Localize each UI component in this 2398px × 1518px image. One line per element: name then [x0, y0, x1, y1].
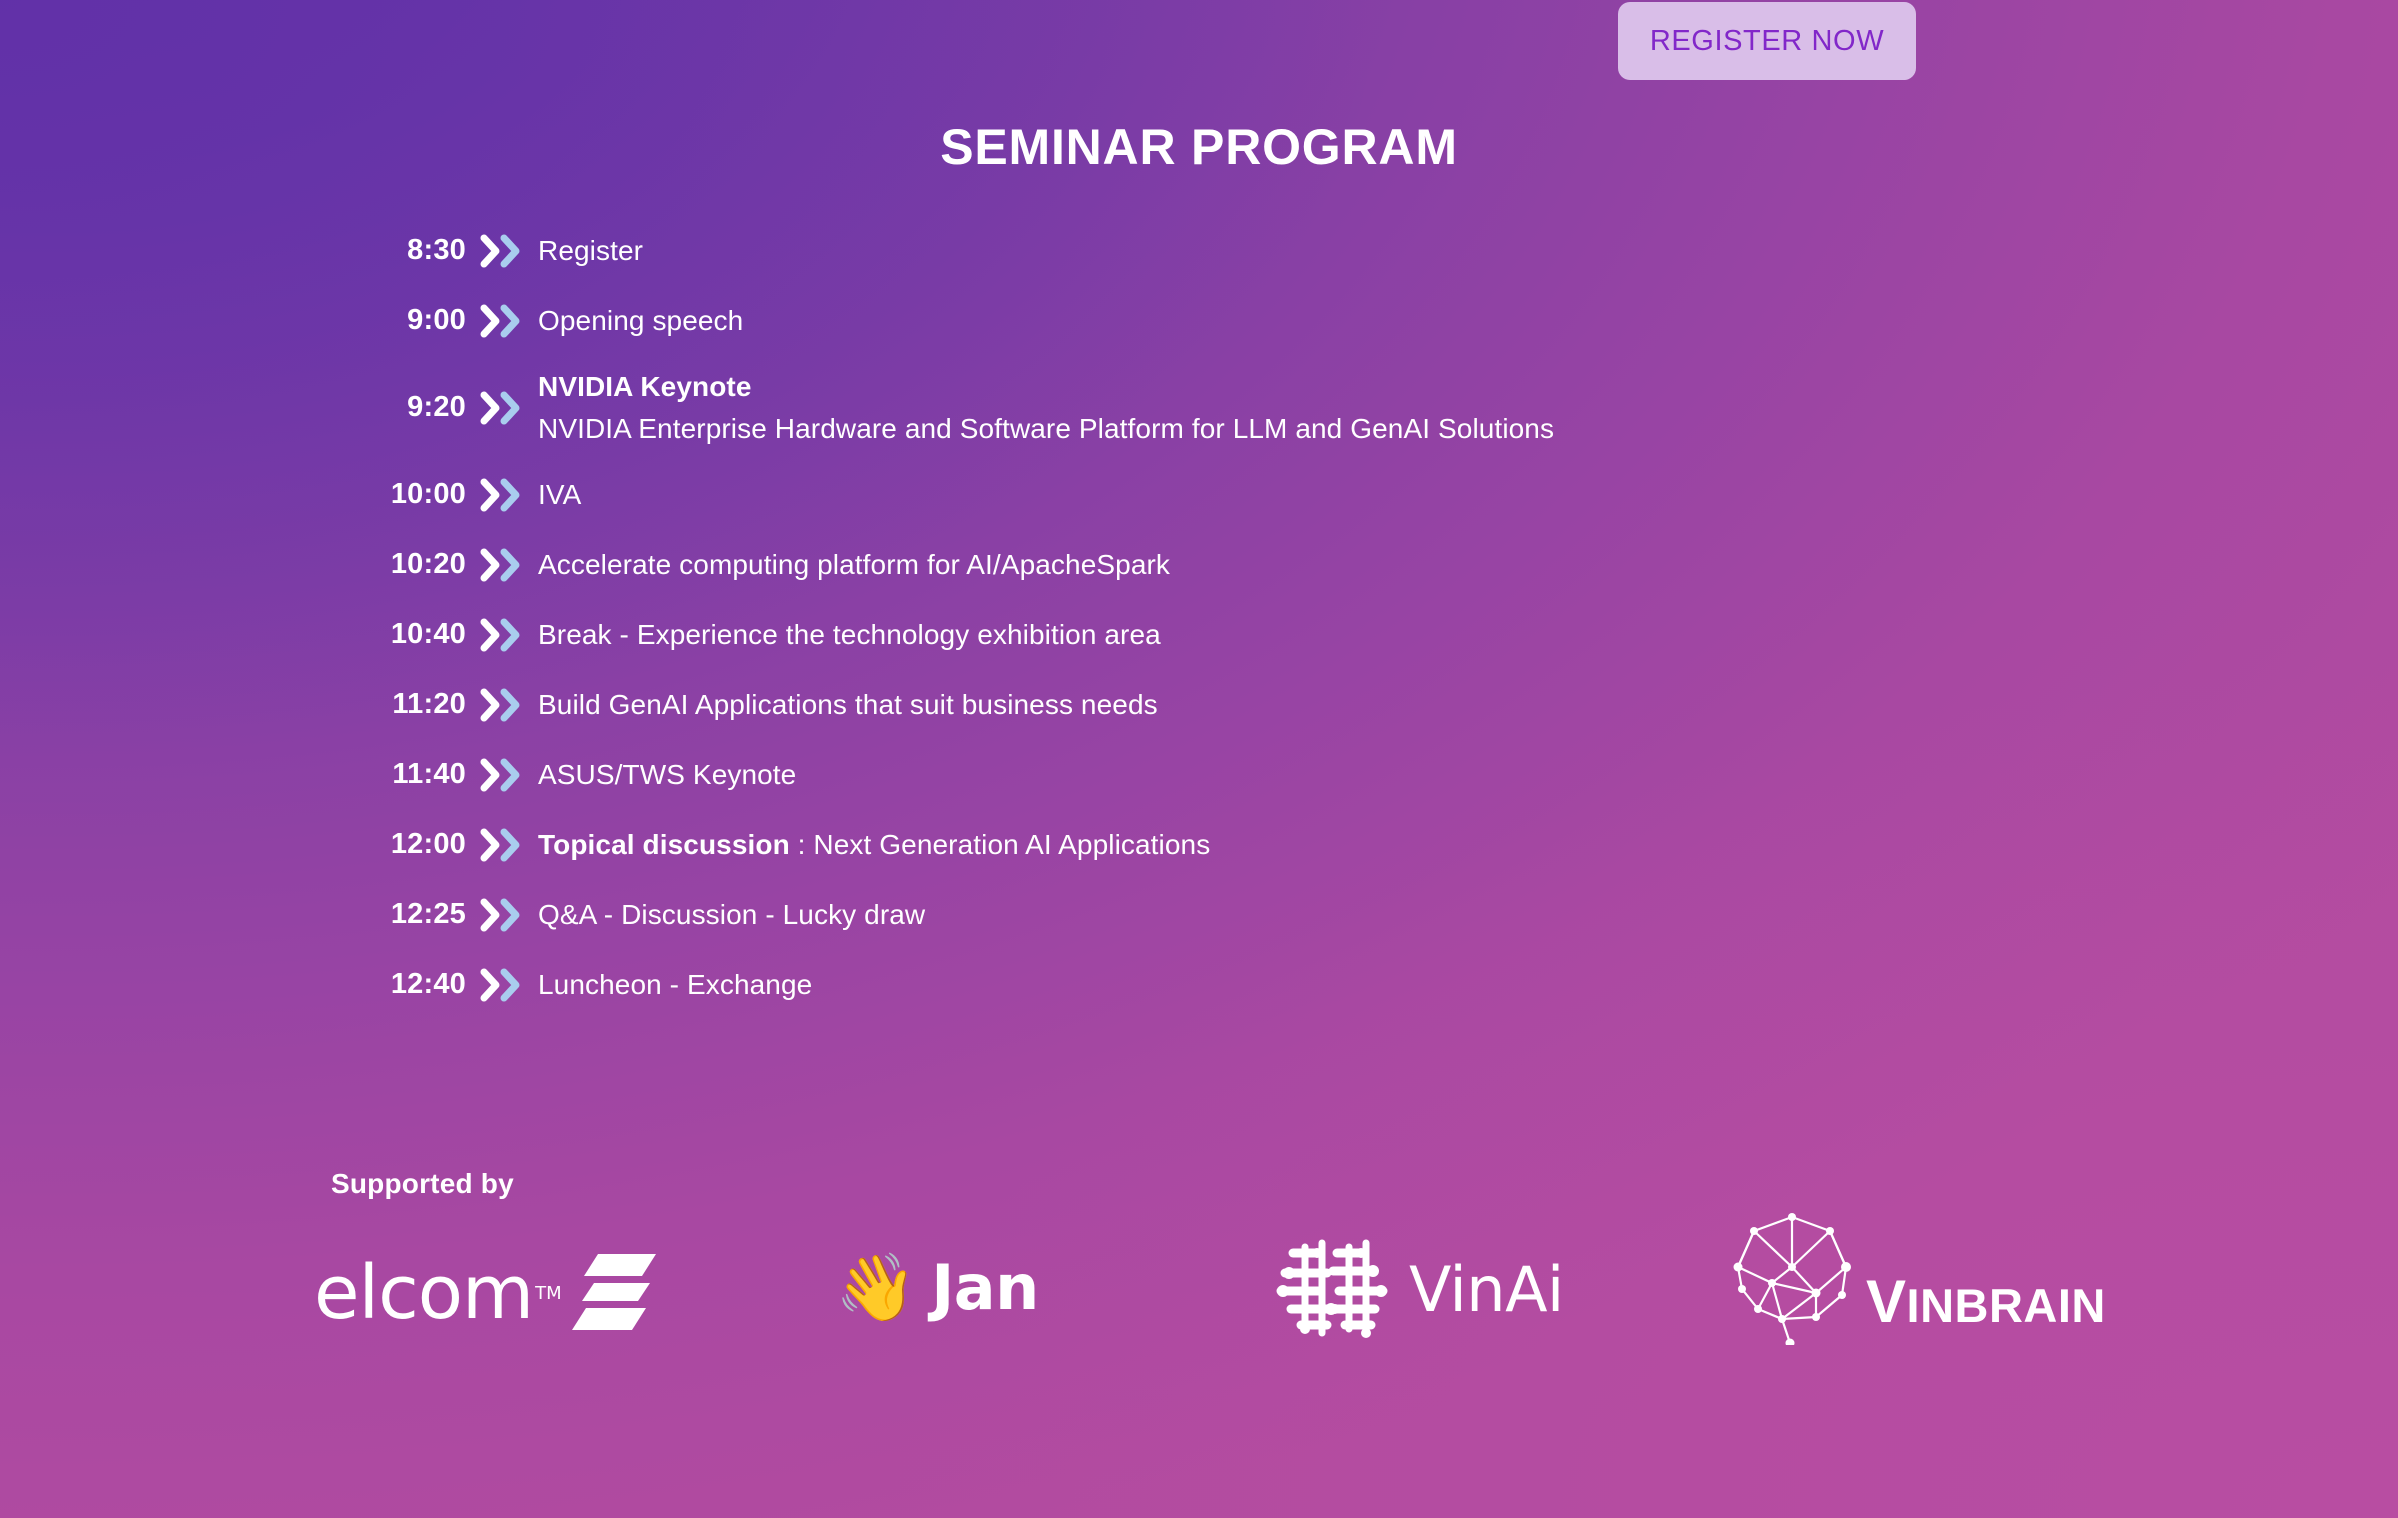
schedule-item-rest: : Next Generation AI Applications: [790, 829, 1211, 860]
jan-wordmark: Jan: [931, 1251, 1039, 1324]
schedule-row: 10:20 Accelerate computing platform for …: [334, 530, 2134, 600]
schedule-row: 11:20 Build GenAI Applications that suit…: [334, 670, 2134, 740]
schedule-row: 9:00 Opening speech: [334, 286, 2134, 356]
schedule-row: 11:40 ASUS/TWS Keynote: [334, 740, 2134, 810]
schedule-time: 11:40: [334, 759, 466, 791]
schedule-row: 12:00 Topical discussion : Next Generati…: [334, 810, 2134, 880]
schedule-item-text: Register: [538, 232, 2134, 270]
double-chevron-right-icon: [466, 898, 538, 932]
double-chevron-right-icon: [466, 688, 538, 722]
schedule-item-text: Luncheon - Exchange: [538, 966, 2134, 1004]
schedule-row: 12:25 Q&A - Discussion - Lucky draw: [334, 880, 2134, 950]
register-now-button[interactable]: REGISTER NOW: [1618, 2, 1916, 80]
schedule-row: 10:40 Break - Experience the technology …: [334, 600, 2134, 670]
schedule-item-text: IVA: [538, 476, 2134, 514]
schedule-time: 9:00: [334, 305, 466, 337]
sponsor-logo-jan: 👋 Jan: [835, 1222, 1039, 1352]
schedule-row: 12:40 Luncheon - Exchange: [334, 950, 2134, 1020]
sponsor-logo-vinbrain: VINBRAIN: [1720, 1212, 2106, 1342]
schedule-time: 12:40: [334, 969, 466, 1001]
supported-by-label: Supported by: [331, 1168, 514, 1200]
schedule-item-subtitle: NVIDIA Enterprise Hardware and Software …: [538, 410, 2134, 448]
schedule-time: 8:30: [334, 235, 466, 267]
sponsor-logo-row: elcom TM 👋 Jan: [300, 1218, 2150, 1368]
schedule-row: 9:20 NVIDIA Keynote NVIDIA Enterprise Ha…: [334, 356, 2134, 460]
vinbrain-wordmark-cap: V: [1866, 1268, 1907, 1335]
double-chevron-right-icon: [466, 234, 538, 268]
schedule-item-text: Break - Experience the technology exhibi…: [538, 616, 2134, 654]
schedule-row: 8:30 Register: [334, 216, 2134, 286]
sponsor-logo-elcom: elcom TM: [314, 1228, 658, 1358]
vinbrain-brain-network-icon: [1720, 1205, 1872, 1350]
double-chevron-right-icon: [466, 828, 538, 862]
schedule-time: 12:00: [334, 829, 466, 861]
double-chevron-right-icon: [466, 391, 538, 425]
schedule-item-text: Build GenAI Applications that suit busin…: [538, 686, 2134, 724]
schedule-time: 9:20: [334, 392, 466, 424]
schedule-item-text: Accelerate computing platform for AI/Apa…: [538, 546, 2134, 584]
elcom-trademark: TM: [535, 1283, 562, 1304]
vinai-wordmark: VinAi: [1409, 1253, 1564, 1326]
page-title: SEMINAR PROGRAM: [0, 118, 2398, 176]
schedule-item-text: Q&A - Discussion - Lucky draw: [538, 896, 2134, 934]
double-chevron-right-icon: [466, 548, 538, 582]
schedule-item-text: Topical discussion : Next Generation AI …: [538, 826, 2134, 864]
schedule-item-title: NVIDIA Keynote: [538, 368, 2134, 406]
waving-hand-icon: 👋: [835, 1254, 917, 1320]
schedule-item-bold-prefix: Topical discussion: [538, 829, 790, 860]
double-chevron-right-icon: [466, 758, 538, 792]
elcom-wordmark: elcom: [314, 1256, 533, 1330]
schedule-time: 10:40: [334, 619, 466, 651]
schedule-item-text: Opening speech: [538, 302, 2134, 340]
vinbrain-wordmark: VINBRAIN: [1866, 1267, 2106, 1336]
vinai-circuit-mark-icon: [1275, 1233, 1393, 1346]
vinbrain-wordmark-rest: INBRAIN: [1907, 1279, 2106, 1332]
schedule-item-text: ASUS/TWS Keynote: [538, 756, 2134, 794]
schedule-time: 10:20: [334, 549, 466, 581]
sponsor-logo-vinai: VinAi: [1275, 1224, 1564, 1354]
double-chevron-right-icon: [466, 304, 538, 338]
schedule-row: 10:00 IVA: [334, 460, 2134, 530]
schedule-time: 10:00: [334, 479, 466, 511]
double-chevron-right-icon: [466, 618, 538, 652]
schedule-item-text: NVIDIA Keynote NVIDIA Enterprise Hardwar…: [538, 368, 2134, 448]
double-chevron-right-icon: [466, 478, 538, 512]
elcom-e-mark-icon: [572, 1250, 658, 1337]
double-chevron-right-icon: [466, 968, 538, 1002]
schedule-time: 11:20: [334, 689, 466, 721]
seminar-schedule-list: 8:30 Register 9:00 Opening speech 9:20 N…: [334, 216, 2134, 1020]
schedule-time: 12:25: [334, 899, 466, 931]
